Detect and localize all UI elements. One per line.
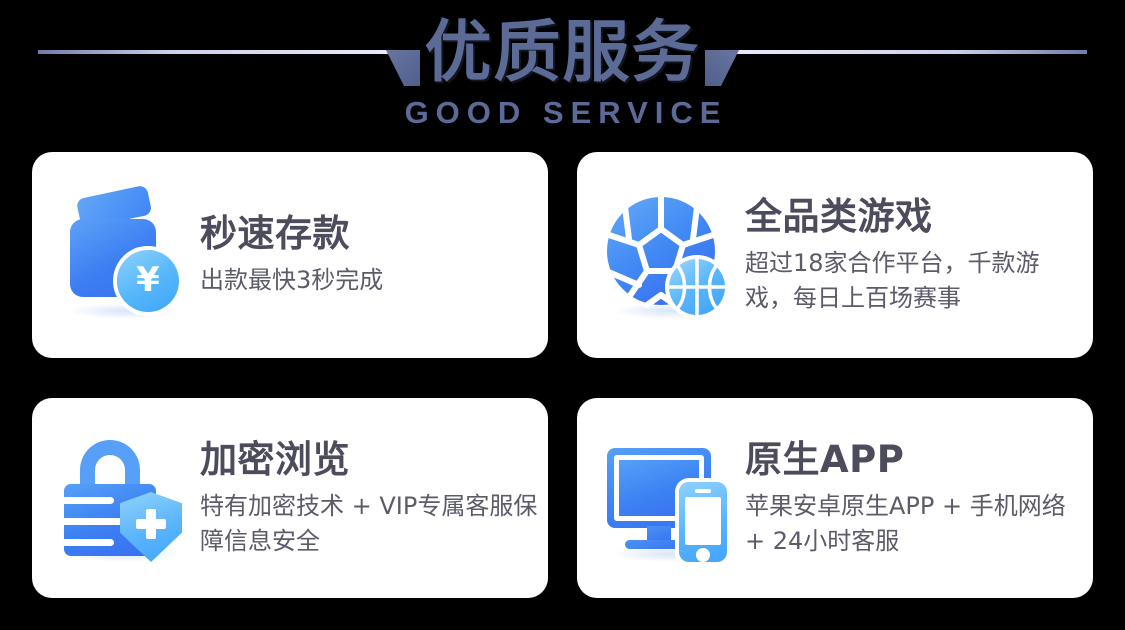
monitor-phone-icon bbox=[603, 432, 735, 564]
service-card-deposit-text: 秒速存款 出款最快3秒完成 bbox=[190, 212, 542, 298]
page-header: 优质服务 GOOD SERVICE bbox=[0, 0, 1125, 145]
wallet-yen-icon: ¥ bbox=[58, 189, 190, 321]
service-card-games[interactable]: 全品类游戏 超过18家合作平台，千款游戏，每日上百场赛事 bbox=[577, 152, 1093, 358]
card-title: 全品类游戏 bbox=[745, 195, 1087, 239]
service-card-native-app-text: 原生APP 苹果安卓原生APP + 手机网络 + 24小时客服 bbox=[735, 438, 1087, 559]
service-card-grid: ¥ 秒速存款 出款最快3秒完成 bbox=[32, 152, 1093, 598]
card-title: 加密浏览 bbox=[200, 438, 542, 482]
phone-screen-shape bbox=[685, 497, 721, 545]
lock-slot-line bbox=[64, 539, 114, 546]
phone-icon bbox=[679, 482, 727, 562]
service-card-encryption[interactable]: 加密浏览 特有加密技术 + VIP专属客服保障信息安全 bbox=[32, 398, 548, 598]
soccer-basketball-icon bbox=[603, 189, 735, 321]
card-description: 特有加密技术 + VIP专属客服保障信息安全 bbox=[200, 489, 540, 559]
service-card-encryption-text: 加密浏览 特有加密技术 + VIP专属客服保障信息安全 bbox=[190, 438, 542, 559]
page-title: 优质服务 bbox=[0, 14, 1125, 90]
plus-icon bbox=[136, 509, 166, 539]
phone-home-button bbox=[696, 548, 710, 562]
ball-vector bbox=[603, 189, 735, 321]
service-card-games-text: 全品类游戏 超过18家合作平台，千款游戏，每日上百场赛事 bbox=[735, 195, 1087, 316]
lock-slot-line bbox=[64, 518, 128, 525]
lock-shield-icon bbox=[58, 432, 190, 564]
card-description: 苹果安卓原生APP + 手机网络 + 24小时客服 bbox=[745, 489, 1085, 559]
yen-symbol: ¥ bbox=[136, 263, 160, 297]
card-title: 秒速存款 bbox=[200, 212, 542, 256]
service-card-native-app[interactable]: 原生APP 苹果安卓原生APP + 手机网络 + 24小时客服 bbox=[577, 398, 1093, 598]
yen-coin-icon: ¥ bbox=[117, 250, 179, 312]
title-block: 优质服务 GOOD SERVICE bbox=[0, 14, 1125, 130]
lock-slot-line bbox=[64, 497, 114, 504]
card-description: 超过18家合作平台，千款游戏，每日上百场赛事 bbox=[745, 246, 1085, 316]
card-title: 原生APP bbox=[745, 438, 1087, 482]
card-description: 出款最快3秒完成 bbox=[200, 263, 542, 298]
phone-speaker-shape bbox=[695, 489, 711, 493]
page-subtitle: GOOD SERVICE bbox=[0, 96, 1125, 130]
service-card-deposit[interactable]: ¥ 秒速存款 出款最快3秒完成 bbox=[32, 152, 548, 358]
